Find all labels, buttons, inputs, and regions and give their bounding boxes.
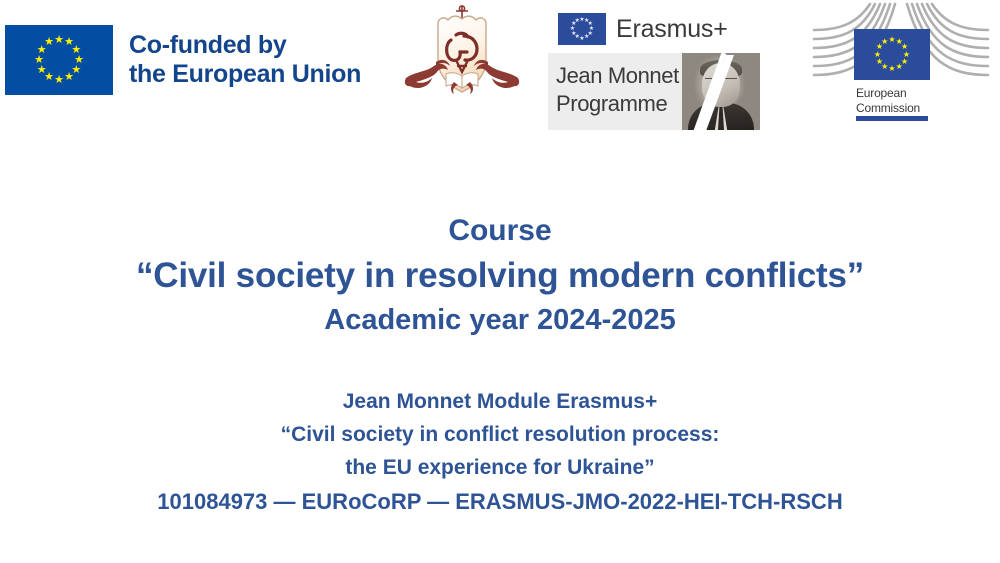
module-title-line-2: the EU experience for Ukraine” xyxy=(0,452,1000,485)
commission-underline xyxy=(856,116,928,121)
erasmus-plus-row: ★★★★★★★★★★★★ Erasmus+ xyxy=(548,5,760,53)
course-label: Course xyxy=(0,210,1000,253)
eu-star-icon: ★ xyxy=(64,72,75,83)
eu-star-icon: ★ xyxy=(895,63,903,71)
academic-year: Academic year 2024-2025 xyxy=(0,299,1000,341)
title-block: Course “Civil society in resolving moder… xyxy=(0,210,1000,341)
programme-line-1: Jean Monnet xyxy=(556,62,679,90)
european-commission-label: European Commission xyxy=(856,86,920,115)
programme-line-2: Programme xyxy=(556,90,679,118)
european-commission-logo: ★★★★★★★★★★★★ European Commission xyxy=(812,2,990,128)
eu-star-icon: ★ xyxy=(881,38,889,46)
logo-bar: ★★★★★★★★★★★★ Co-funded by the European U… xyxy=(0,0,1000,140)
eu-star-icon: ★ xyxy=(54,75,65,86)
commission-line-1: European xyxy=(856,86,920,101)
eu-star-icon: ★ xyxy=(874,51,882,59)
jean-monnet-programme-row: Jean Monnet Programme xyxy=(548,53,760,130)
eu-star-icon: ★ xyxy=(36,65,47,76)
module-label: Jean Monnet Module Erasmus+ xyxy=(0,386,1000,419)
eu-star-icon: ★ xyxy=(574,18,580,24)
eu-flag-icon: ★★★★★★★★★★★★ xyxy=(5,25,113,95)
commission-line-2: Commission xyxy=(856,101,920,116)
project-info-block: Jean Monnet Module Erasmus+ “Civil socie… xyxy=(0,386,1000,519)
eu-star-icon: ★ xyxy=(888,65,896,73)
eu-star-icon: ★ xyxy=(34,55,45,66)
eu-star-icon: ★ xyxy=(44,37,55,48)
course-name: “Civil society in resolving modern confl… xyxy=(0,253,1000,299)
jean-monnet-programme-label: Jean Monnet Programme xyxy=(556,62,679,118)
cofunded-by-eu-logo: ★★★★★★★★★★★★ Co-funded by the European U… xyxy=(5,25,361,95)
portrait-glasses xyxy=(705,78,737,86)
university-crest-logo xyxy=(392,2,532,110)
jean-monnet-portrait-photo xyxy=(682,53,760,130)
crest-icon xyxy=(392,2,532,110)
module-title-line-1: “Civil society in conflict resolution pr… xyxy=(0,419,1000,452)
erasmus-jean-monnet-logo: ★★★★★★★★★★★★ Erasmus+ Jean Monnet Progra… xyxy=(548,5,760,131)
cofunded-line-2: the European Union xyxy=(129,60,361,90)
project-code: 101084973 — EURoCoRP — ERASMUS-JMO-2022-… xyxy=(0,485,1000,520)
erasmus-plus-label: Erasmus+ xyxy=(616,17,728,42)
commission-eu-flag-icon: ★★★★★★★★★★★★ xyxy=(854,29,930,80)
erasmus-eu-flag-icon: ★★★★★★★★★★★★ xyxy=(558,13,606,45)
cofunded-line-1: Co-funded by xyxy=(129,31,361,61)
eu-star-icon: ★ xyxy=(875,58,883,66)
cofunded-label: Co-funded by the European Union xyxy=(129,31,361,90)
